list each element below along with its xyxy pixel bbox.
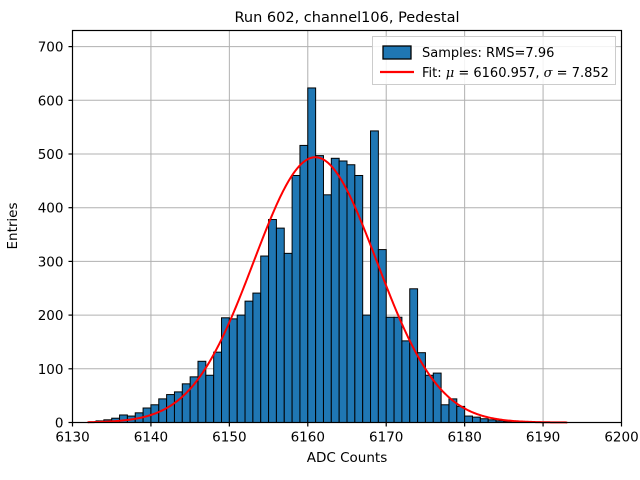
histogram-bar [371,131,379,423]
histogram-bar [465,416,473,422]
x-tick-label: 6200 [604,430,638,446]
y-tick-label: 300 [38,254,64,270]
histogram-bar [229,319,237,423]
histogram-bar [425,375,433,422]
histogram-bar [206,375,214,422]
x-tick-label: 6130 [55,430,89,446]
histogram-bar [323,195,331,423]
y-tick-label: 200 [38,308,64,324]
legend-label-fit: Fit: μ = 6160.957, σ = 7.852 [422,66,609,81]
y-tick-label: 500 [38,147,64,163]
histogram-bar [316,156,324,423]
histogram-bar [222,318,230,423]
histogram-bar [284,253,292,422]
y-tick-label: 400 [38,201,64,217]
histogram-bar [300,145,308,422]
x-axis-label: ADC Counts [307,450,387,466]
histogram-bar [402,341,410,423]
y-tick-label: 0 [55,416,64,432]
y-tick-label: 700 [38,40,64,56]
y-tick-label: 600 [38,93,64,109]
legend-fit-prefix: Fit: [422,66,446,81]
histogram-bar [339,161,347,423]
figure-canvas: 6130614061506160617061806190620001002003… [0,0,640,480]
x-tick-label: 6160 [291,430,325,446]
histogram-bar [331,158,339,422]
histogram-bar [276,228,284,422]
histogram-bar [269,220,277,423]
y-tick-label: 100 [38,362,64,378]
histogram-bar [308,88,316,423]
histogram-bar [363,315,371,422]
x-tick-label: 6150 [212,430,246,446]
y-axis-label: Entries [5,202,21,249]
histogram-bar [214,352,222,422]
legend[interactable]: Samples: RMS=7.96 Fit: μ = 6160.957, σ =… [373,37,616,85]
histogram-bar [237,315,245,422]
legend-fit-mu-value: = 6160.957, [454,66,543,81]
histogram-bar [253,293,261,422]
x-tick-label: 6180 [447,430,481,446]
histogram-bar [261,256,269,422]
histogram-bar [292,175,300,422]
legend-label-samples: Samples: RMS=7.96 [422,46,554,61]
legend-fit-sigma-value: = 7.852 [553,66,609,81]
page-title: Run 602, channel106, Pedestal [234,10,459,26]
histogram-bar [472,417,480,422]
x-tick-label: 6170 [369,430,403,446]
histogram-bar [245,301,253,422]
histogram-chart: 6130614061506160617061806190620001002003… [0,0,640,480]
x-tick-label: 6140 [134,430,168,446]
legend-swatch-samples [383,46,411,59]
histogram-bar [394,317,402,422]
x-tick-label: 6190 [526,430,560,446]
histogram-bar [386,317,394,422]
histogram-bar [355,175,363,422]
legend-fit-mu-symbol: μ [446,66,454,81]
histogram-bar [441,405,449,423]
